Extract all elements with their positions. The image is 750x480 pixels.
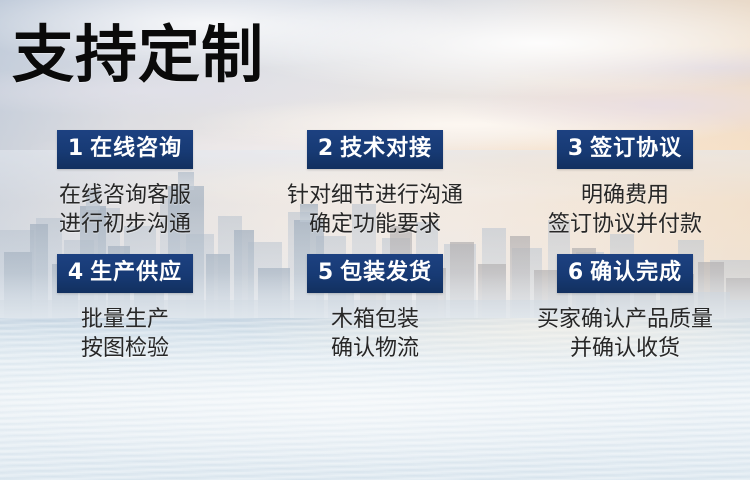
step-description-5: 木箱包装 确认物流 bbox=[331, 306, 419, 363]
page-title: 支持定制 bbox=[12, 24, 264, 86]
step-heading-4: 生产供应 bbox=[90, 260, 182, 285]
step-item-6: 6确认完成 买家确认产品质量 并确认收货 bbox=[500, 254, 750, 363]
step-desc-line-1a: 在线咨询客服 bbox=[59, 182, 191, 211]
step-badge-5: 5包装发货 bbox=[307, 254, 443, 293]
steps-row-2: 4生产供应 批量生产 按图检验 5包装发货 木箱包装 确认物流 6确认完成 bbox=[0, 254, 750, 363]
step-heading-1: 在线咨询 bbox=[90, 136, 182, 161]
step-desc-line-3b: 签订协议并付款 bbox=[548, 211, 702, 240]
step-desc-line-5a: 木箱包装 bbox=[331, 306, 419, 335]
step-desc-line-3a: 明确费用 bbox=[548, 182, 702, 211]
step-badge-3: 3签订协议 bbox=[557, 130, 693, 169]
step-badge-4: 4生产供应 bbox=[57, 254, 193, 293]
step-desc-line-6a: 买家确认产品质量 bbox=[537, 306, 713, 335]
step-number-4: 4 bbox=[68, 260, 84, 285]
step-heading-6: 确认完成 bbox=[590, 260, 682, 285]
step-item-5: 5包装发货 木箱包装 确认物流 bbox=[250, 254, 500, 363]
step-number-1: 1 bbox=[68, 136, 84, 161]
step-number-5: 5 bbox=[318, 260, 334, 285]
step-description-4: 批量生产 按图检验 bbox=[81, 306, 169, 363]
step-item-2: 2技术对接 针对细节进行沟通 确定功能要求 bbox=[250, 130, 500, 239]
custom-service-poster: 支持定制 1在线咨询 在线咨询客服 进行初步沟通 2技术对接 针对细节进行沟通 … bbox=[0, 0, 750, 480]
step-description-1: 在线咨询客服 进行初步沟通 bbox=[59, 182, 191, 239]
step-desc-line-2b: 确定功能要求 bbox=[287, 211, 463, 240]
step-desc-line-4b: 按图检验 bbox=[81, 335, 169, 364]
step-desc-line-4a: 批量生产 bbox=[81, 306, 169, 335]
step-desc-line-6b: 并确认收货 bbox=[537, 335, 713, 364]
step-item-4: 4生产供应 批量生产 按图检验 bbox=[0, 254, 250, 363]
step-heading-5: 包装发货 bbox=[340, 260, 432, 285]
step-number-3: 3 bbox=[568, 136, 584, 161]
step-desc-line-2a: 针对细节进行沟通 bbox=[287, 182, 463, 211]
step-description-3: 明确费用 签订协议并付款 bbox=[548, 182, 702, 239]
steps-row-1: 1在线咨询 在线咨询客服 进行初步沟通 2技术对接 针对细节进行沟通 确定功能要… bbox=[0, 130, 750, 239]
step-item-3: 3签订协议 明确费用 签订协议并付款 bbox=[500, 130, 750, 239]
step-number-2: 2 bbox=[318, 136, 334, 161]
steps-grid: 1在线咨询 在线咨询客服 进行初步沟通 2技术对接 针对细节进行沟通 确定功能要… bbox=[0, 130, 750, 363]
step-number-6: 6 bbox=[568, 260, 584, 285]
step-description-2: 针对细节进行沟通 确定功能要求 bbox=[287, 182, 463, 239]
step-badge-1: 1在线咨询 bbox=[57, 130, 193, 169]
step-badge-6: 6确认完成 bbox=[557, 254, 693, 293]
step-heading-2: 技术对接 bbox=[340, 136, 432, 161]
step-desc-line-1b: 进行初步沟通 bbox=[59, 211, 191, 240]
step-item-1: 1在线咨询 在线咨询客服 进行初步沟通 bbox=[0, 130, 250, 239]
step-desc-line-5b: 确认物流 bbox=[331, 335, 419, 364]
step-description-6: 买家确认产品质量 并确认收货 bbox=[537, 306, 713, 363]
step-heading-3: 签订协议 bbox=[590, 136, 682, 161]
step-badge-2: 2技术对接 bbox=[307, 130, 443, 169]
